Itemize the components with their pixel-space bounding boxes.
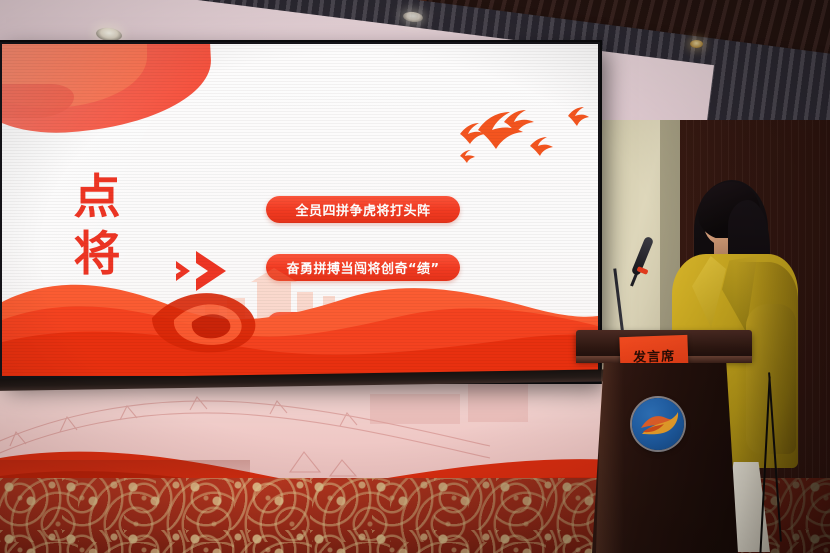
conference-stage-photo: 点 将 台 全员四拼争虎将打头阵 奋勇拼搏当闯将创奇“绩” 多点发力做名将谋发展	[0, 0, 830, 553]
stage-floor-shadow	[0, 460, 250, 488]
downlight-icon	[690, 40, 703, 48]
led-screen: 点 将 台 全员四拼争虎将打头阵 奋勇拼搏当闯将创奇“绩” 多点发力做名将谋发展	[2, 44, 598, 376]
screen-banner-1: 全员四拼争虎将打头阵	[266, 196, 460, 223]
flying-doves-icon	[442, 96, 598, 174]
organization-logo	[632, 398, 684, 450]
podium-highlight	[596, 363, 624, 553]
logo-wave-icon	[632, 398, 684, 450]
led-screen-frame: 点 将 台 全员四拼争虎将打头阵 奋勇拼搏当闯将创奇“绩” 多点发力做名将谋发展	[0, 42, 600, 382]
red-mountain-waves	[2, 246, 598, 376]
speaker-podium: 发言席	[576, 330, 752, 553]
title-char-1: 点	[60, 169, 134, 226]
